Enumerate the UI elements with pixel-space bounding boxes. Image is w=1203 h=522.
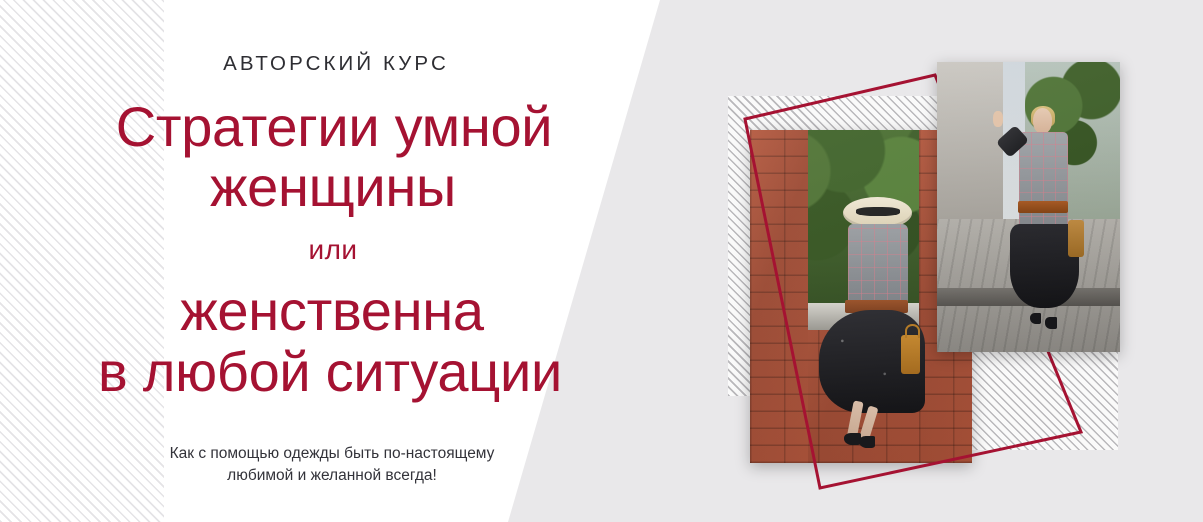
headline-line-2: женщины [210, 158, 456, 216]
eyebrow-label: АВТОРСКИЙ КУРС [223, 52, 449, 76]
subtitle-text: Как с помощью одежды быть по-настоящему … [170, 443, 495, 487]
headline-line-4: в любой ситуации [98, 343, 562, 401]
text-column: АВТОРСКИЙ КУРС Стратегии умной женщины и… [0, 0, 660, 522]
headline-line-3: женственна [180, 282, 483, 340]
promo-banner: АВТОРСКИЙ КУРС Стратегии умной женщины и… [0, 0, 1203, 522]
connector-word: или [308, 234, 357, 266]
photo-woman-standing [937, 62, 1120, 352]
headline-line-1: Стратегии умной [116, 98, 553, 156]
photo-tone-overlay [937, 62, 1120, 352]
